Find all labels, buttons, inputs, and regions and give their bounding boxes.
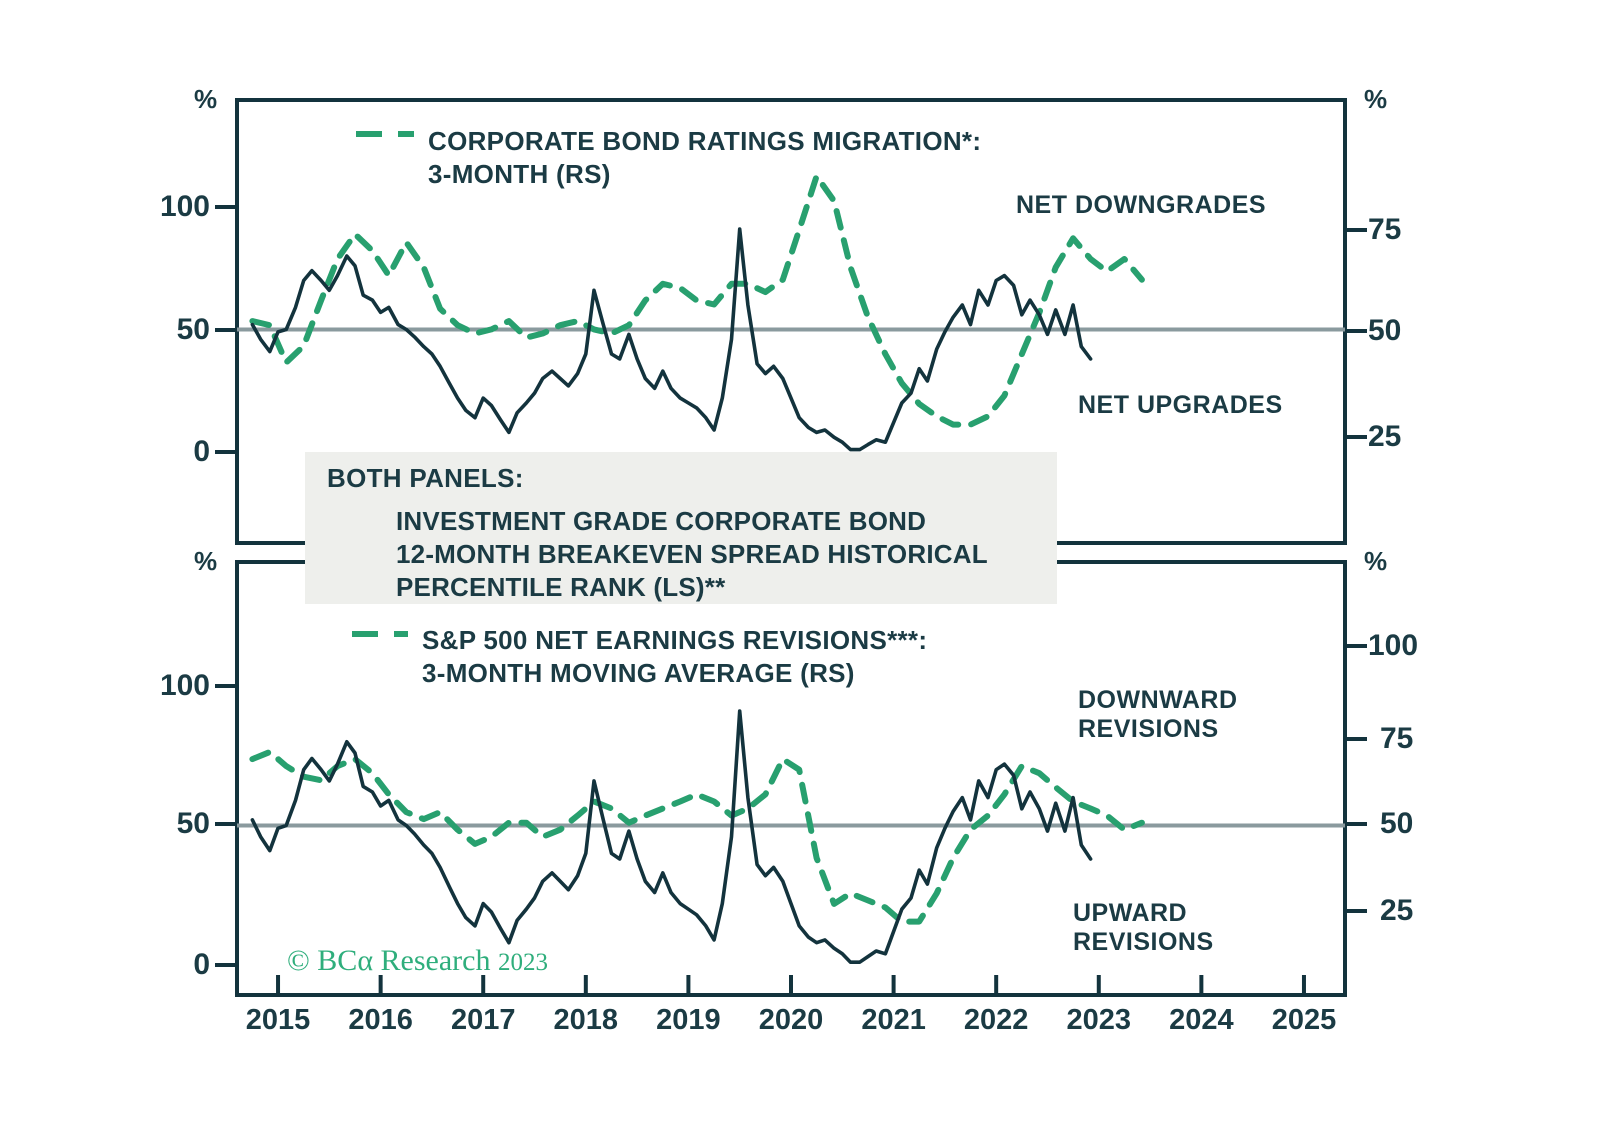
net-upgrades-annotation: NET UPGRADES xyxy=(1078,390,1283,421)
top-left-ytick-0: 0 xyxy=(100,435,210,469)
copyright-year: 2023 xyxy=(498,949,548,976)
copyright-symbol: © xyxy=(287,944,310,977)
top-legend-label-line2: 3-MONTH (RS) xyxy=(428,158,611,191)
top-right-axis-unit: % xyxy=(1364,84,1387,115)
both-panels-title: BOTH PANELS: xyxy=(327,463,524,494)
top-left-ytick-100: 100 xyxy=(100,190,210,224)
top-right-ytick-50: 50 xyxy=(1368,314,1478,348)
both-panels-line3: PERCENTILE RANK (LS)** xyxy=(396,571,725,605)
net-downgrades-annotation: NET DOWNGRADES xyxy=(1016,190,1266,221)
bottom-right-ytick-50: 50 xyxy=(1380,807,1490,841)
both-panels-line1: INVESTMENT GRADE CORPORATE BOND xyxy=(396,505,926,539)
series-line-dashed xyxy=(252,176,1142,424)
bottom-left-axis-unit: % xyxy=(194,546,217,577)
series-line-dashed xyxy=(252,752,1142,922)
bottom-right-ytick-100: 100 xyxy=(1368,629,1488,663)
top-right-ytick-75: 75 xyxy=(1368,213,1478,247)
bottom-left-ytick-50: 50 xyxy=(100,807,210,841)
copyright-brand: BCα Research xyxy=(317,944,490,977)
top-left-axis-unit: % xyxy=(194,84,217,115)
upward-revisions-annotation-line1: UPWARD xyxy=(1073,898,1187,929)
downward-revisions-annotation-line2: REVISIONS xyxy=(1078,714,1219,745)
upward-revisions-annotation-line2: REVISIONS xyxy=(1073,927,1214,958)
copyright-notice: © BCα Research 2023 xyxy=(287,944,548,978)
top-legend-label-line1: CORPORATE BOND RATINGS MIGRATION*: xyxy=(428,125,981,158)
bottom-legend-label-line2: 3-MONTH MOVING AVERAGE (RS) xyxy=(422,657,855,690)
bottom-left-ytick-100: 100 xyxy=(100,669,210,703)
downward-revisions-annotation-line1: DOWNWARD xyxy=(1078,685,1238,716)
bottom-right-ytick-25: 25 xyxy=(1380,894,1490,928)
x-tick-label-2025: 2025 xyxy=(1244,1004,1364,1037)
bottom-right-ytick-75: 75 xyxy=(1380,722,1490,756)
top-right-ytick-25: 25 xyxy=(1368,420,1478,454)
top-left-ytick-50: 50 xyxy=(100,313,210,347)
chart-canvas: % % 100 50 0 75 50 25 CORPORATE BOND RAT… xyxy=(0,0,1598,1144)
bottom-left-ytick-0: 0 xyxy=(100,948,210,982)
both-panels-line2: 12-MONTH BREAKEVEN SPREAD HISTORICAL xyxy=(396,538,988,572)
bottom-legend-label-line1: S&P 500 NET EARNINGS REVISIONS***: xyxy=(422,624,927,657)
bottom-right-axis-unit: % xyxy=(1364,546,1387,577)
